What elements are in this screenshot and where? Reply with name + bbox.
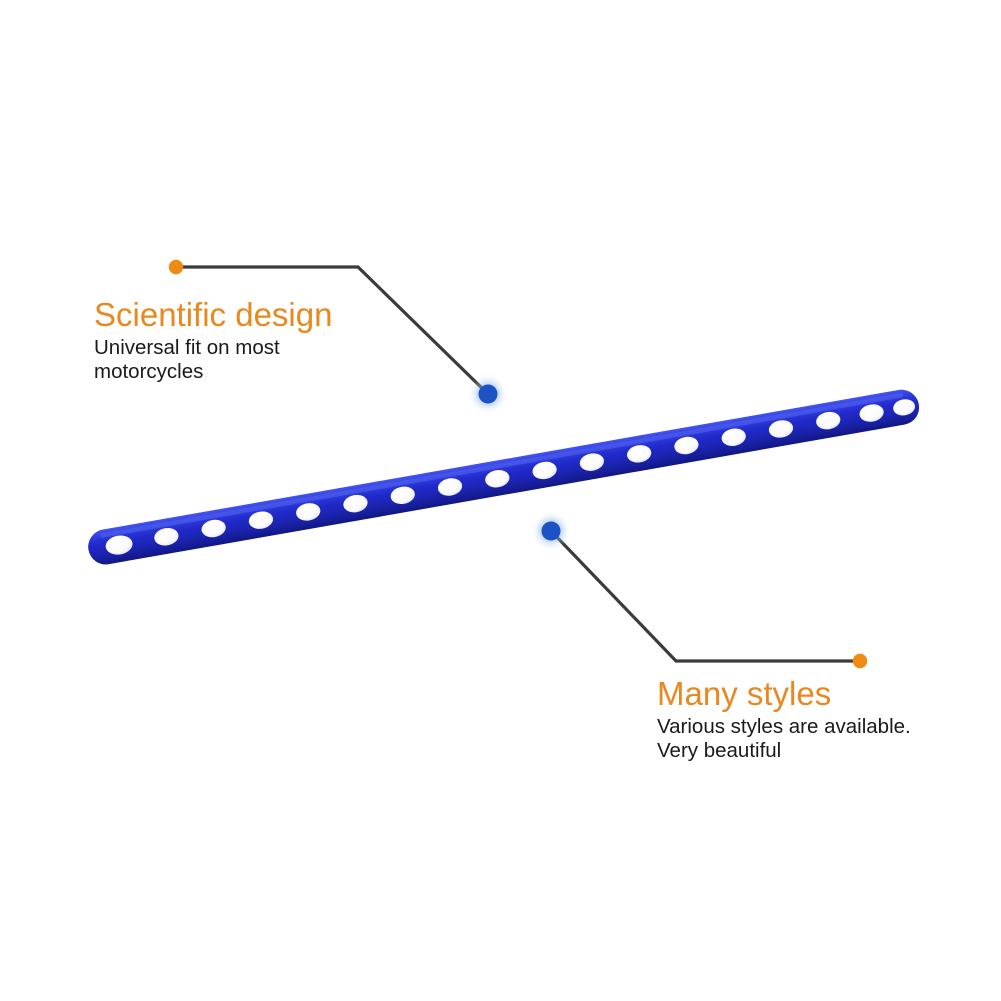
diagram-artwork <box>0 0 1001 1001</box>
leader-line-many-styles <box>551 531 860 661</box>
callout-body-line: motorcycles <box>94 360 332 384</box>
product-strap <box>85 387 921 567</box>
callout-body-scientific-design: Universal fit on most motorcycles <box>94 336 332 384</box>
callout-title-many-styles: Many styles <box>657 675 911 713</box>
callout-many-styles: Many styles Various styles are available… <box>657 675 911 763</box>
orange-anchor-dot-icon <box>853 654 867 668</box>
callout-title-scientific-design: Scientific design <box>94 296 332 334</box>
callout-marker-many-styles[interactable] <box>532 512 570 550</box>
callout-body-line: Universal fit on most <box>94 336 332 360</box>
callout-body-line: Various styles are available. <box>657 715 911 739</box>
callout-marker-scientific-design[interactable] <box>469 375 507 413</box>
leader-path <box>551 531 860 661</box>
diagram-canvas: Scientific design Universal fit on most … <box>0 0 1001 1001</box>
strap-highlight <box>100 393 904 538</box>
marker-dot-icon <box>542 522 561 541</box>
marker-dot-icon <box>479 385 498 404</box>
orange-anchor-dot-icon <box>169 260 183 274</box>
callout-body-many-styles: Various styles are available. Very beaut… <box>657 715 911 763</box>
callout-body-line: Very beautiful <box>657 739 911 763</box>
callout-scientific-design: Scientific design Universal fit on most … <box>94 296 332 384</box>
